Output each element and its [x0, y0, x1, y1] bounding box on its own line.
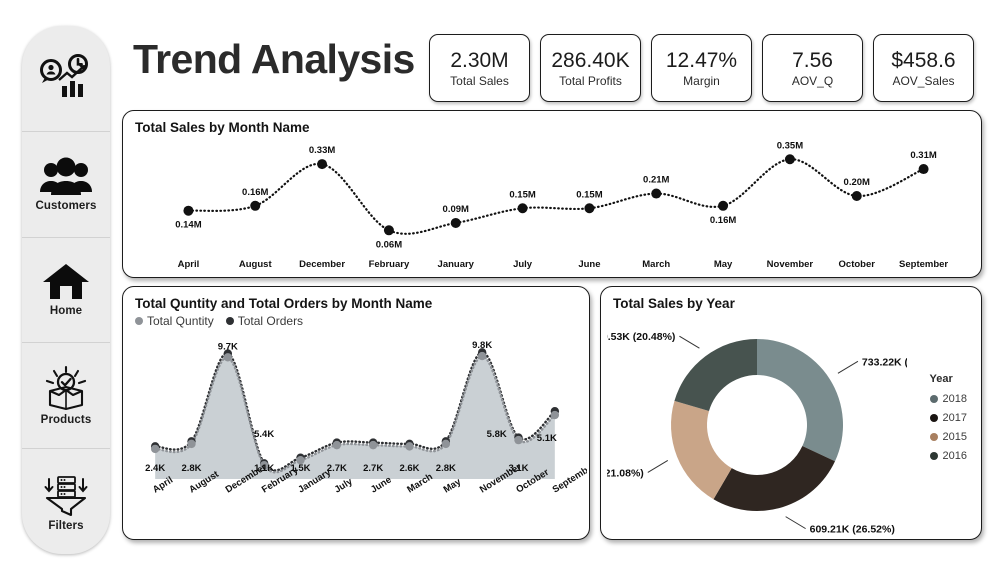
- area-chart-svg[interactable]: 2.4K2.8K1.1K1.5K2.7K2.7K2.6K2.8K3.1K9.7K…: [123, 331, 587, 540]
- home-icon: [41, 262, 91, 302]
- donut-legend-item-2017[interactable]: 2017: [930, 412, 967, 424]
- svg-text:0.35M: 0.35M: [777, 140, 803, 151]
- svg-text:December: December: [299, 259, 345, 270]
- svg-text:February: February: [369, 259, 410, 270]
- kpi-total-profits-value: 286.40K: [551, 49, 629, 73]
- customers-icon: [38, 157, 94, 197]
- legend-swatch-total-orders: [226, 317, 234, 325]
- panel-total-sales-by-month[interactable]: Total Sales by Month Name 0.14MApril0.16…: [122, 110, 982, 278]
- legend-label-total-orders: Total Orders: [238, 314, 303, 328]
- svg-text:September: September: [551, 460, 587, 496]
- page-title: Trend Analysis: [133, 36, 415, 83]
- donut-legend-title: Year: [930, 373, 967, 385]
- kpi-margin-value: 12.47%: [666, 49, 737, 73]
- svg-text:2.7K: 2.7K: [363, 463, 383, 474]
- kpi-total-sales[interactable]: 2.30M Total Sales: [429, 34, 530, 102]
- sidebar-item-filters[interactable]: Filters: [22, 449, 110, 554]
- svg-text:470.53K (20.48%): 470.53K (20.48%): [607, 331, 675, 343]
- svg-text:9.7K: 9.7K: [218, 341, 238, 352]
- kpi-aov-sales-label: AOV_Sales: [892, 74, 954, 88]
- kpi-total-sales-label: Total Sales: [450, 74, 509, 88]
- svg-text:September: September: [899, 259, 948, 270]
- sidebar-label-customers: Customers: [36, 200, 97, 212]
- kpi-total-profits-label: Total Profits: [559, 74, 622, 88]
- sidebar-item-products[interactable]: Products: [22, 343, 110, 449]
- products-box-icon: [39, 365, 93, 411]
- svg-text:0.14M: 0.14M: [175, 220, 201, 231]
- svg-text:0.33M: 0.33M: [309, 145, 335, 156]
- kpi-margin[interactable]: 12.47% Margin: [651, 34, 752, 102]
- donut-legend-label-2015: 2015: [943, 431, 967, 443]
- filter-funnel-icon: [39, 471, 93, 517]
- kpi-total-profits[interactable]: 286.40K Total Profits: [540, 34, 641, 102]
- svg-text:5.8K: 5.8K: [487, 429, 507, 440]
- svg-text:May: May: [714, 259, 733, 270]
- panel-title-donut: Total Sales by Year: [613, 296, 735, 311]
- legend-item-total-orders[interactable]: Total Orders: [226, 314, 303, 328]
- kpi-aov-sales[interactable]: $458.6 AOV_Sales: [873, 34, 974, 102]
- panel-title-line: Total Sales by Month Name: [135, 120, 310, 135]
- legend-item-total-quntity[interactable]: Total Quntity: [135, 314, 214, 328]
- dashboard-page: Customers Home: [0, 0, 1000, 578]
- svg-text:0.16M: 0.16M: [242, 187, 268, 198]
- donut-legend-item-2016[interactable]: 2016: [930, 450, 967, 462]
- line-chart-svg[interactable]: 0.14MApril0.16MAugust0.33MDecember0.06MF…: [123, 111, 979, 275]
- sidebar-label-products: Products: [41, 414, 92, 426]
- svg-text:0.15M: 0.15M: [509, 189, 535, 200]
- sidebar-item-customers[interactable]: Customers: [22, 132, 110, 238]
- svg-text:9.8K: 9.8K: [472, 340, 492, 351]
- donut-legend-swatch-2015: [930, 433, 938, 441]
- sidebar-item-logo[interactable]: [22, 26, 110, 132]
- svg-text:5.4K: 5.4K: [254, 429, 274, 440]
- svg-text:0.16M: 0.16M: [710, 215, 736, 226]
- svg-text:0.15M: 0.15M: [576, 189, 602, 200]
- kpi-total-sales-value: 2.30M: [450, 49, 508, 73]
- donut-legend-item-2018[interactable]: 2018: [930, 393, 967, 405]
- legend-label-total-quntity: Total Quntity: [147, 314, 214, 328]
- svg-text:April: April: [178, 259, 200, 270]
- svg-text:5.1K: 5.1K: [537, 433, 557, 444]
- sidebar-item-home[interactable]: Home: [22, 238, 110, 344]
- svg-text:484.25K (21.08%): 484.25K (21.08%): [607, 467, 644, 479]
- kpi-aov-sales-value: $458.6: [891, 49, 955, 73]
- svg-text:733.22K (31.92%): 733.22K (31.92%): [862, 356, 907, 368]
- svg-text:2.8K: 2.8K: [181, 463, 201, 474]
- svg-text:0.31M: 0.31M: [910, 150, 936, 161]
- legend-swatch-total-quntity: [135, 317, 143, 325]
- svg-text:March: March: [642, 259, 670, 270]
- svg-text:January: January: [438, 259, 475, 270]
- kpi-aov-q-label: AOV_Q: [792, 74, 833, 88]
- panel-title-area: Total Quntity and Total Orders by Month …: [135, 296, 432, 311]
- sidebar-label-home: Home: [50, 305, 82, 317]
- donut-chart-svg[interactable]: 733.22K (31.92%)609.21K (26.52%)484.25K …: [607, 317, 907, 537]
- donut-legend-swatch-2016: [930, 452, 938, 460]
- kpi-card-row: 2.30M Total Sales 286.40K Total Profits …: [429, 34, 974, 102]
- area-chart-legend: Total Quntity Total Orders: [135, 314, 303, 328]
- svg-text:0.20M: 0.20M: [844, 177, 870, 188]
- kpi-aov-q[interactable]: 7.56 AOV_Q: [762, 34, 863, 102]
- svg-text:July: July: [513, 259, 533, 270]
- svg-text:June: June: [578, 259, 600, 270]
- donut-legend-label-2018: 2018: [943, 393, 967, 405]
- panel-total-sales-by-year[interactable]: Total Sales by Year 733.22K (31.92%)609.…: [600, 286, 982, 540]
- donut-legend-label-2017: 2017: [943, 412, 967, 424]
- svg-text:2.4K: 2.4K: [145, 463, 165, 474]
- svg-text:0.09M: 0.09M: [443, 204, 469, 215]
- svg-text:2.6K: 2.6K: [399, 463, 419, 474]
- svg-text:0.21M: 0.21M: [643, 175, 669, 186]
- donut-legend-label-2016: 2016: [943, 450, 967, 462]
- sidebar-nav: Customers Home: [22, 26, 110, 554]
- svg-text:November: November: [767, 259, 814, 270]
- analytics-logo-icon: [37, 53, 95, 101]
- donut-legend: Year 2018 2017 2015 2016: [930, 373, 967, 462]
- sidebar-label-filters: Filters: [48, 520, 83, 532]
- kpi-margin-label: Margin: [683, 74, 720, 88]
- kpi-aov-q-value: 7.56: [792, 49, 833, 73]
- panel-quantity-orders-by-month[interactable]: Total Quntity and Total Orders by Month …: [122, 286, 590, 540]
- svg-text:August: August: [239, 259, 273, 270]
- donut-legend-swatch-2017: [930, 414, 938, 422]
- donut-legend-swatch-2018: [930, 395, 938, 403]
- svg-text:October: October: [839, 259, 876, 270]
- donut-legend-item-2015[interactable]: 2015: [930, 431, 967, 443]
- svg-text:2.8K: 2.8K: [436, 463, 456, 474]
- svg-text:609.21K (26.52%): 609.21K (26.52%): [810, 524, 895, 536]
- svg-text:0.06M: 0.06M: [376, 239, 402, 250]
